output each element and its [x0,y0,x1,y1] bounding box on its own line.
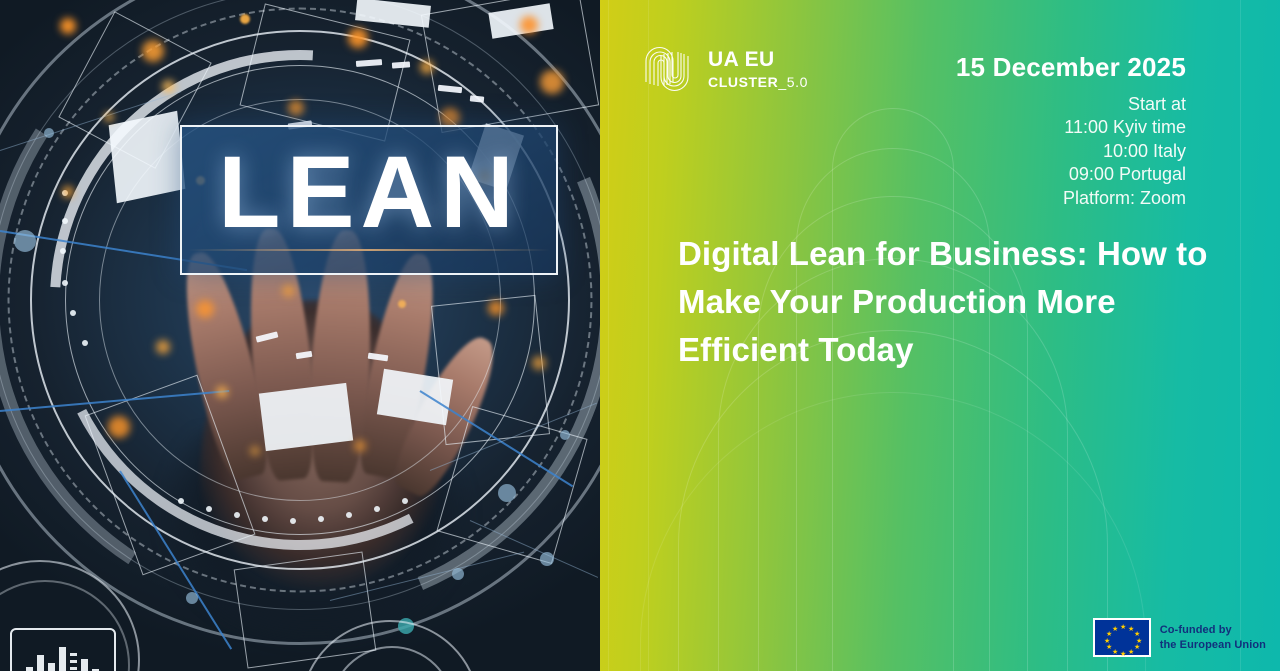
event-meta-block: 15 December 2025 Start at 11:00 Kyiv tim… [956,52,1186,210]
event-time-portugal: 09:00 Portugal [956,163,1186,186]
brand-cluster-word: CLUSTER [708,74,778,90]
eu-funding-line2: the European Union [1160,638,1266,653]
lean-sign: LEAN [180,125,558,275]
bokeh-14 [196,300,214,318]
bokeh-20 [532,356,546,370]
bokeh-7 [540,70,564,94]
hud-plate-right [431,295,550,445]
hero-image-panel: LEAN [0,0,600,671]
eu-funding-line1: Co-funded by [1160,623,1266,638]
network-node-4 [540,552,554,566]
bokeh-6 [520,16,538,34]
bokeh-16 [108,416,130,438]
bokeh-10 [62,186,74,198]
webinar-announcement-poster: LEAN [0,0,1280,671]
hud-chip-a [109,111,186,204]
ua-eu-cluster-spiral-logo-icon [640,40,694,98]
bokeh-8 [162,80,175,93]
brand-version: _5.0 [778,74,808,90]
event-time-kyiv: 11:00 Kyiv time [956,116,1186,139]
page-title: Digital Lean for Business: How to Make Y… [678,230,1248,374]
network-node-1 [14,230,36,252]
bokeh-1 [60,18,76,34]
bokeh-19 [488,300,504,316]
bokeh-21 [398,300,406,308]
event-time-italy: 10:00 Italy [956,140,1186,163]
bokeh-18 [282,284,295,297]
eu-funding-text: Co-funded by the European Union [1160,623,1266,653]
event-date: 15 December 2025 [956,52,1186,83]
eu-funding-badge: ★ ★ ★ ★ ★ ★ ★ ★ ★ ★ ★ ★ Co-funded by the… [1093,618,1266,657]
bokeh-22 [354,440,366,452]
bokeh-15 [156,340,170,354]
bokeh-2 [142,40,164,62]
network-node-3 [498,484,516,502]
hud-chip-d [259,383,353,451]
brand-lockup: UA EU CLUSTER_5.0 [640,40,808,98]
bokeh-4 [348,28,368,48]
content-panel: UA EU CLUSTER_5.0 15 December 2025 Start… [600,0,1280,671]
bokeh-3 [240,14,250,24]
eu-flag-icon: ★ ★ ★ ★ ★ ★ ★ ★ ★ ★ ★ ★ [1093,618,1151,657]
bokeh-23 [250,446,260,456]
network-node-8 [560,430,570,440]
network-node-2 [44,128,54,138]
brand-name-line2: CLUSTER_5.0 [708,75,808,89]
network-node-7 [186,592,198,604]
bokeh-5 [420,60,434,74]
bokeh-17 [216,386,228,398]
hud-bar-chart-widget [10,628,116,671]
event-platform: Platform: Zoom [956,187,1186,210]
bokeh-24 [104,112,114,122]
event-start-label: Start at [956,93,1186,116]
bokeh-11 [288,100,304,116]
hud-tick-2 [392,61,410,68]
lean-sign-text: LEAN [218,141,520,243]
network-node-5 [452,568,464,580]
brand-name-line1: UA EU [708,49,808,70]
